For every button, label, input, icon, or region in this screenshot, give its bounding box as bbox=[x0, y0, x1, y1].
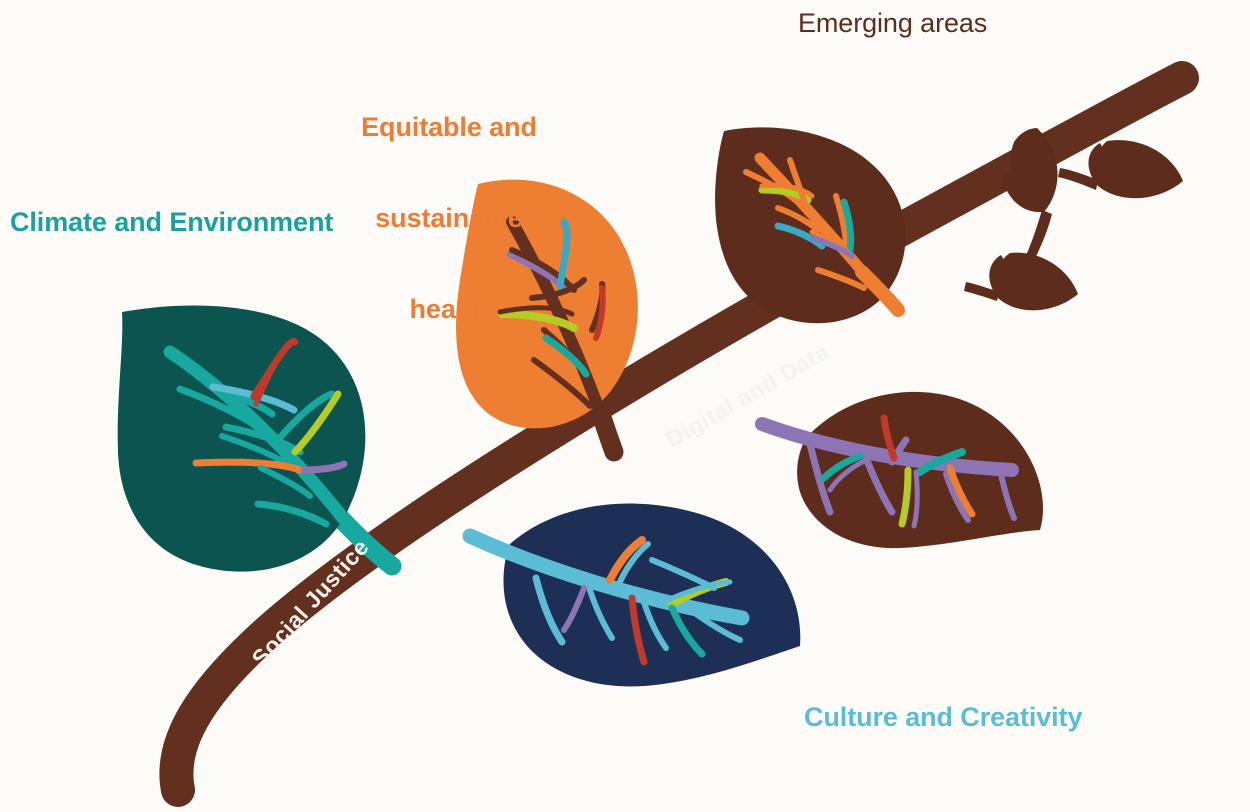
culture-and-creativity-leaf bbox=[470, 504, 800, 687]
label-emerging-areas: Emerging areas bbox=[798, 8, 987, 38]
label-health-line-1: Equitable and bbox=[338, 112, 560, 142]
bud-leaf-upper bbox=[1002, 128, 1058, 268]
label-climate-and-environment: Climate and Environment bbox=[10, 207, 333, 237]
digital-and-data-leaf bbox=[762, 392, 1043, 548]
label-equitable-and-sustainable-health: Equitable and sustainable health bbox=[338, 52, 560, 385]
bud-leaf-lower bbox=[964, 253, 1078, 311]
label-health-line-3: health bbox=[338, 294, 560, 324]
diagram-canvas: Digital and Data Social Justice Climate … bbox=[0, 0, 1250, 812]
emerging-areas-leaf bbox=[715, 127, 905, 323]
branch-diagram-svg: Digital and Data Social Justice bbox=[0, 0, 1250, 812]
label-culture-and-creativity: Culture and Creativity bbox=[804, 702, 1082, 732]
label-health-line-2: sustainable bbox=[338, 203, 560, 233]
